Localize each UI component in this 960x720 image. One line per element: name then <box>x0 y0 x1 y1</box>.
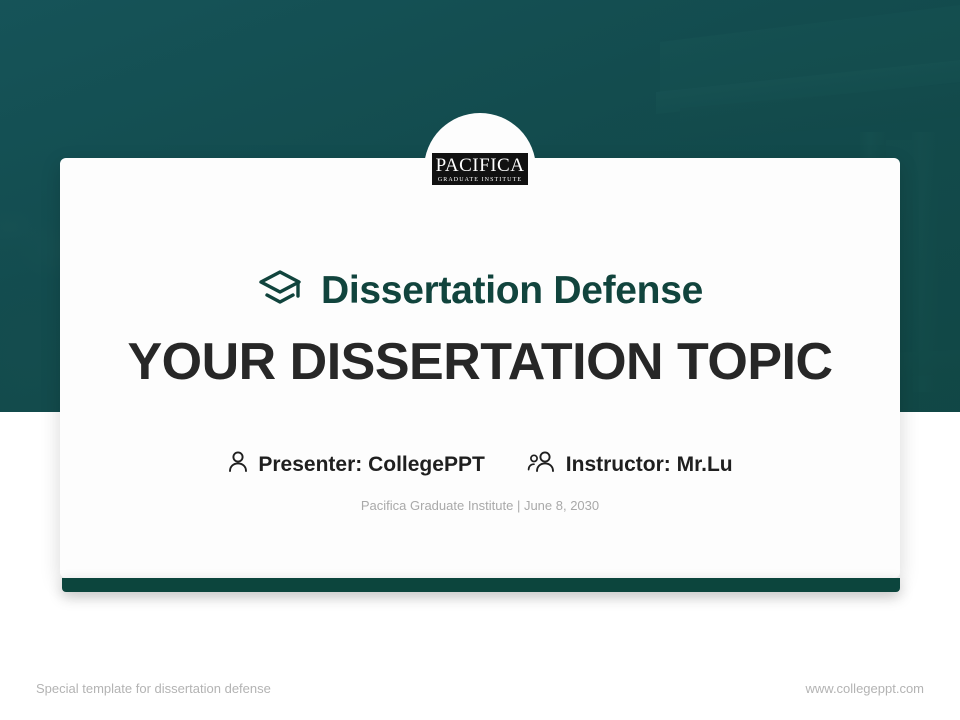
page-title: YOUR DISSERTATION TOPIC <box>0 332 960 392</box>
footer-right-url: www.collegeppt.com <box>806 681 925 696</box>
footer-left-text: Special template for dissertation defens… <box>36 681 271 696</box>
presenter-label: Presenter: CollegePPT <box>258 453 484 477</box>
logo-subtitle: GRADUATE INSTITUTE <box>438 177 522 183</box>
eyebrow-label: Dissertation Defense <box>321 269 703 313</box>
instructor-item: Instructor: Mr.Lu <box>527 450 733 479</box>
eyebrow-row: Dissertation Defense <box>0 268 960 313</box>
pacifica-logo: PACIFICA GRADUATE INSTITUTE <box>432 153 528 185</box>
presentation-slide: PACIFICA GRADUATE INSTITUTE Dissertation… <box>0 0 960 720</box>
card-accent-bar <box>62 578 900 592</box>
people-group-icon <box>527 450 557 479</box>
people-row: Presenter: CollegePPT Instructor: Mr.Lu <box>0 450 960 479</box>
graduation-cap-icon <box>257 268 303 313</box>
logo-wordmark: PACIFICA <box>436 156 525 175</box>
presenter-item: Presenter: CollegePPT <box>227 450 484 479</box>
person-icon <box>227 450 249 479</box>
instructor-label: Instructor: Mr.Lu <box>566 453 733 477</box>
institution-date: Pacifica Graduate Institute | June 8, 20… <box>0 498 960 513</box>
